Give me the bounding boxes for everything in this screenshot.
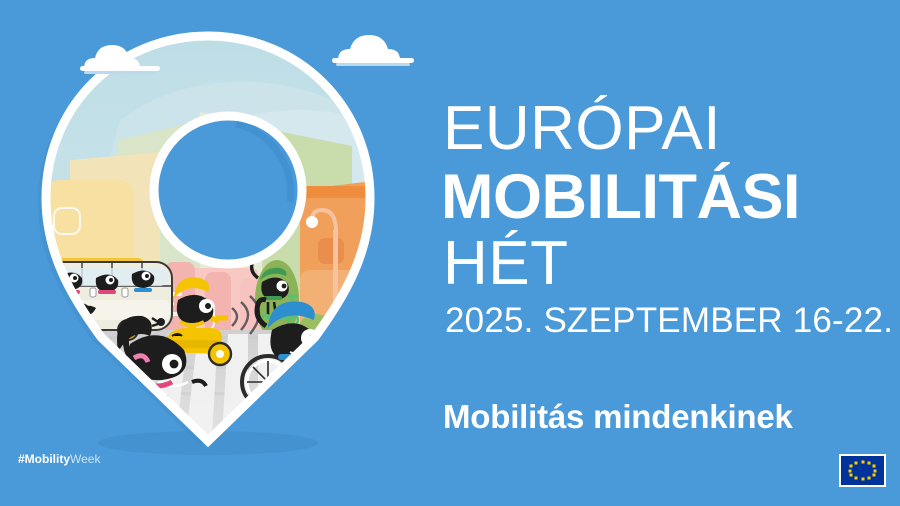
bus-passenger-3 (96, 274, 119, 294)
hashtag: #MobilityWeek (18, 452, 100, 466)
eu-flag-star (848, 469, 851, 472)
event-date: 2025. SZEPTEMBER 16-22. (445, 303, 893, 338)
bike-wheel-front (306, 356, 358, 408)
poster-canvas: EURÓPAI MOBILITÁSI HÉT 2025. SZEPTEMBER … (0, 0, 900, 506)
headline-line-1: EURÓPAI (443, 98, 721, 160)
bus-passenger-1 (24, 266, 48, 294)
eu-flag-star (861, 478, 864, 481)
eu-flag-star (850, 473, 853, 476)
eu-flag-icon (839, 454, 886, 487)
hashtag-light: Week (70, 452, 100, 466)
bus-passenger-4 (132, 270, 155, 292)
cloud-right (332, 35, 414, 66)
road-line-3 (0, 392, 440, 395)
eu-flag-star (872, 465, 875, 468)
bike-spokes-front (311, 361, 353, 403)
eu-flag-field (841, 456, 884, 485)
headline-line-3: HÉT (443, 233, 569, 295)
map-pin-illustration (0, 0, 440, 506)
tagline: Mobilitás mindenkinek (443, 400, 793, 433)
eu-flag-star (867, 477, 870, 480)
window-orange-1 (318, 238, 344, 264)
text-block: EURÓPAI MOBILITÁSI HÉT 2025. SZEPTEMBER … (441, 0, 900, 506)
eu-flag-star (850, 465, 853, 468)
hashtag-bold: #Mobility (18, 452, 70, 466)
eu-flag-star (874, 469, 877, 472)
headline-line-2: MOBILITÁSI (441, 166, 800, 229)
road-line-2 (0, 366, 440, 369)
eu-flag-star (855, 461, 858, 464)
tree-round-2 (336, 321, 368, 347)
eu-flag-star (867, 461, 870, 464)
eu-flag-star (861, 460, 864, 463)
eu-flag-star (855, 477, 858, 480)
pin-hole (158, 120, 298, 260)
eu-flag-star (872, 473, 875, 476)
